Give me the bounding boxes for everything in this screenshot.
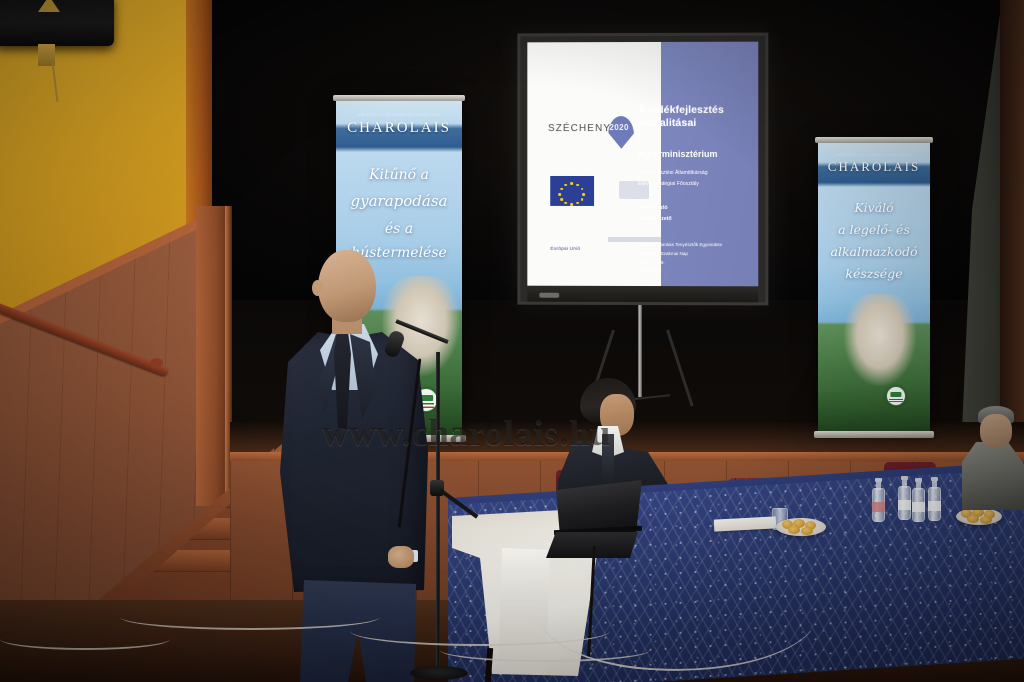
wall-edge-right <box>1000 0 1024 470</box>
floor-cable <box>0 628 170 650</box>
logo-inner-mark <box>890 392 901 397</box>
water-bottle <box>872 478 886 524</box>
water-bottle <box>928 477 942 523</box>
banner-script-line-4: készsége <box>818 266 930 283</box>
banner-tagline: A MINŐSÉGI HÚSTERMELÉS GARANCIÁJA <box>336 113 462 117</box>
handrail-end-cap <box>150 358 163 368</box>
water-bottle <box>898 476 912 522</box>
banner-script-line-3: és a <box>336 220 462 238</box>
banner-script-line-2: gyarapodása <box>336 192 462 212</box>
slide-department-line-2: EMVA Stratégiai Főosztály <box>638 181 754 187</box>
banner-script-line-1: Kiváló <box>818 200 930 217</box>
logo-hungarian-band <box>889 399 903 403</box>
speaker-hands <box>388 546 414 568</box>
banner-script-line-2: a legelő- és <box>818 222 930 239</box>
banner-top-rail <box>333 95 465 101</box>
association-logo-icon <box>886 386 906 406</box>
screen-bottom-bar <box>527 286 758 303</box>
loudspeaker-icon <box>0 0 114 46</box>
banner-script-line-3: alkalmazkodó <box>818 244 930 261</box>
microphone-stand-base <box>410 666 468 680</box>
floor-cable <box>440 638 650 662</box>
slide-title: A vidékfejlesztés aktualitásai <box>638 104 754 129</box>
guest-jacket <box>962 442 1024 510</box>
slide-department-line-1: Vidékfejlesztési Államtitkárság <box>638 170 754 176</box>
floor-cable <box>120 604 380 630</box>
banner-bottom-rail <box>814 431 934 438</box>
pastry-plate <box>776 518 826 536</box>
speaker-hair <box>315 247 378 283</box>
charolais-cow-photo <box>844 294 916 386</box>
projection-screen: SZÉCHENYI 2020 <box>517 33 768 306</box>
slide-white-panel <box>527 42 661 286</box>
banner-brand-charolais: CHAROLAIS <box>336 120 462 137</box>
slide-event-line-2: Regionális Szakmai Nap <box>638 251 758 257</box>
conference-photo-scene: A MINŐSÉGI HÚSTERMELÉS GARANCIÁJA CHAROL… <box>0 0 1024 682</box>
slide-surface: SZÉCHENYI 2020 <box>527 42 758 287</box>
screen-pull-knob[interactable] <box>539 293 559 298</box>
watermark: www.charolais.hu <box>322 408 702 458</box>
seated-older-guest <box>962 406 1024 510</box>
slide-presenter-role: osztályvezető <box>638 216 754 222</box>
charolais-banner-right: A MINŐSÉGI HÚSTERMELÉS GARANCIÁJA CHAROL… <box>818 142 930 432</box>
szechenyi-pin-icon <box>608 116 634 149</box>
water-bottle <box>912 478 926 524</box>
slide-event-line-1: Magyar Charolais Tenyésztők Egyesülete <box>638 242 758 248</box>
eu-stars <box>550 176 594 206</box>
banner-tagline: A MINŐSÉGI HÚSTERMELÉS GARANCIÁJA <box>818 153 930 157</box>
slide-event-location: Alsóvadász <box>638 268 758 274</box>
eu-label: Európai Unió <box>550 247 580 252</box>
banner-top-rail <box>815 137 933 143</box>
szechenyi-wordmark: SZÉCHENYI <box>548 123 615 134</box>
banner-brand-charolais: CHAROLAIS <box>818 159 930 175</box>
banner-script-line-1: Kitűnő a <box>336 166 462 184</box>
speaker-brand-triangle-icon <box>38 0 60 12</box>
european-union-flag-icon <box>550 176 594 206</box>
speaker-ear <box>312 280 323 296</box>
slide-organization: Agrárminisztérium <box>638 149 754 160</box>
pastry-plate <box>956 508 1002 525</box>
slide-event-date: 2018. 10. 09. <box>638 260 758 266</box>
szechenyi-year-label: 2020 <box>609 123 628 132</box>
guest-face <box>980 414 1012 448</box>
slide-presenter-name: Pelei László <box>638 205 754 211</box>
wall-corner-edge <box>186 0 212 240</box>
